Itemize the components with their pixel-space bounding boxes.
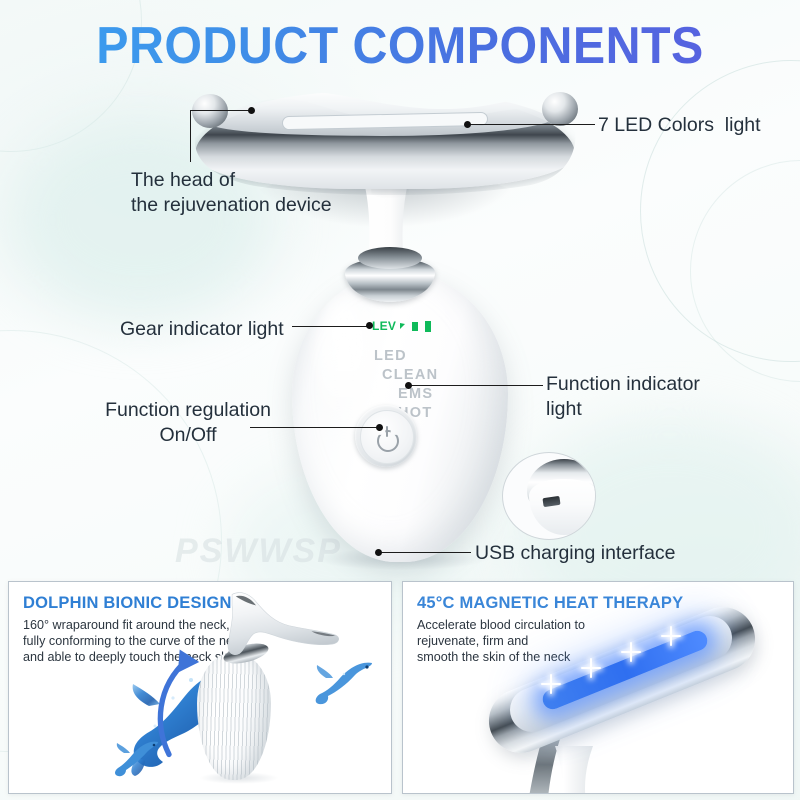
leader-dot-gear <box>366 322 373 329</box>
leader-dot-usb <box>375 549 382 556</box>
leader-dot-led <box>464 121 471 128</box>
function-label-led: LED <box>370 349 490 365</box>
leader-line-head <box>190 110 250 111</box>
leader-line-usb <box>378 552 471 553</box>
chrome-collar-top <box>358 247 422 269</box>
gear-level-indicator: LEV <box>372 319 431 333</box>
level-bar-1 <box>412 322 418 331</box>
callout-7-led-colors: 7 LED Colors light <box>598 113 761 138</box>
sparkle-icon <box>541 674 561 694</box>
panel-dolphin-bionic-design: DOLPHIN BIONIC DESIGN 160° wraparound fi… <box>8 581 392 794</box>
sparkle-icon <box>581 658 601 678</box>
leader-line-gear <box>292 326 372 327</box>
callout-function-indicator: Function indicator light <box>546 372 700 422</box>
leader-dot-power <box>376 424 383 431</box>
leader-dot-function-indicator <box>405 382 412 389</box>
head-tip-right <box>542 92 578 126</box>
watermark: PSWWSP <box>175 532 342 571</box>
callout-usb-charging: USB charging interface <box>475 541 676 566</box>
side-device-head <box>221 588 341 658</box>
leader-line-head-vertical <box>190 110 191 162</box>
callout-function-regulation: Function regulation On/Off <box>88 398 288 448</box>
function-label-ems: EMS <box>370 387 490 403</box>
level-triangle-icon <box>400 323 405 329</box>
usb-port-inset <box>502 452 596 540</box>
heat-device-illustration <box>463 596 783 794</box>
level-bar-2 <box>425 321 431 332</box>
function-label-clean: CLEAN <box>370 368 490 384</box>
page-title: PRODUCT COMPONENTS <box>28 16 772 76</box>
leader-dot-head <box>248 107 255 114</box>
callout-gear-indicator-light: Gear indicator light <box>120 317 284 342</box>
panel-heading-dolphin: DOLPHIN BIONIC DESIGN <box>23 594 232 613</box>
side-device-body <box>197 652 271 780</box>
leader-line-function-indicator <box>408 385 543 386</box>
panel-magnetic-heat-therapy: 45°C MAGNETIC HEAT THERAPY Accelerate bl… <box>402 581 794 794</box>
level-label: LEV <box>372 319 396 333</box>
callout-head-of-device: The head of the rejuvenation device <box>131 168 332 218</box>
power-button-inner[interactable] <box>360 410 414 464</box>
leader-line-led <box>467 124 595 125</box>
dolphin-icon-right <box>314 658 376 706</box>
sparkle-icon <box>661 626 681 646</box>
infographic-page: PRODUCT COMPONENTS PSWWSP LEV LED CLEAN … <box>0 0 800 800</box>
sparkle-icon <box>621 642 641 662</box>
power-button[interactable] <box>355 405 417 467</box>
